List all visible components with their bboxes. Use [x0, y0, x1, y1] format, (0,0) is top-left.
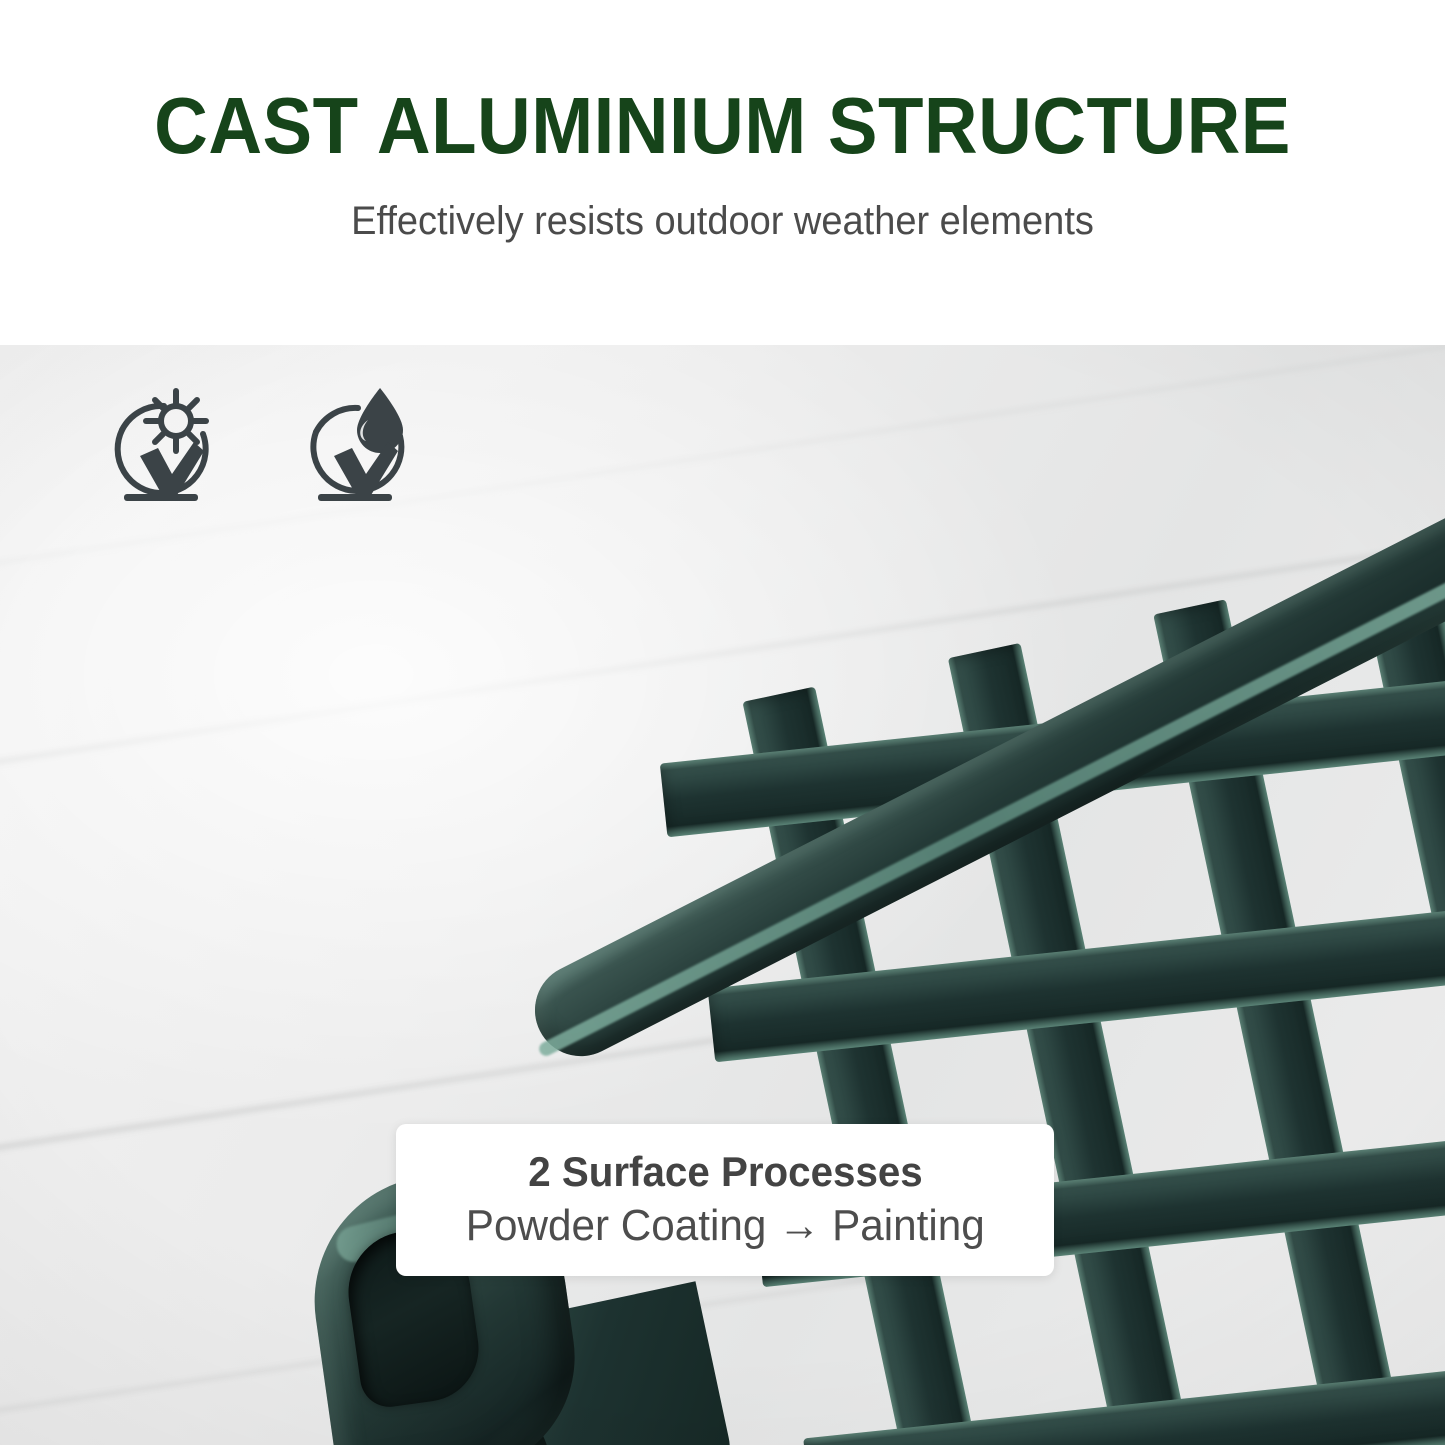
- product-feature-banner: CAST ALUMINIUM STRUCTURE Effectively res…: [0, 0, 1445, 1445]
- card-title: 2 Surface Processes: [528, 1147, 923, 1197]
- lattice-backrest: [710, 569, 1445, 1445]
- feature-icon-group: [104, 386, 412, 516]
- page-subtitle: Effectively resists outdoor weather elem…: [36, 197, 1409, 245]
- header-banner: CAST ALUMINIUM STRUCTURE Effectively res…: [0, 0, 1445, 345]
- card-subtitle: Powder Coating → Painting: [466, 1199, 985, 1253]
- surface-process-card: 2 Surface Processes Powder Coating → Pai…: [396, 1124, 1054, 1276]
- page-title: CAST ALUMINIUM STRUCTURE: [51, 86, 1395, 166]
- uv-sun-resistant-icon: [104, 386, 216, 516]
- water-resistant-icon: [300, 386, 412, 516]
